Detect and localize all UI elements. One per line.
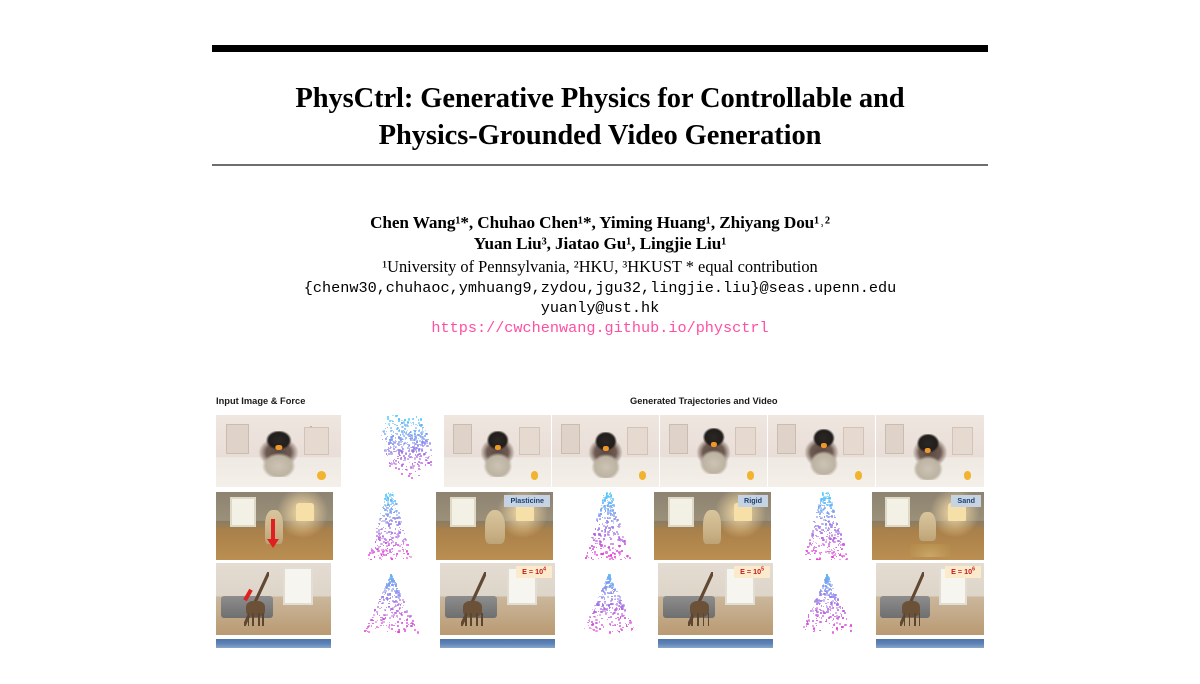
email-primary: {chenw30,chuhaoc,ymhuang9,zydou,jgu32,li… <box>212 278 988 298</box>
row1-frame-2 <box>552 415 659 487</box>
title-rule-bottom <box>212 164 988 166</box>
row4-result-1 <box>440 639 555 648</box>
figure-headers: Input Image & Force Generated Trajectori… <box>212 396 988 410</box>
material-badge: Rigid <box>738 495 768 507</box>
title-rule-top <box>212 45 988 52</box>
row1-frame-1 <box>444 415 551 487</box>
title-line-1: PhysCtrl: Generative Physics for Control… <box>295 83 904 114</box>
figure-header-generated: Generated Trajectories and Video <box>630 396 778 406</box>
teaser-figure: Input Image & Force Generated Trajectori… <box>212 396 988 648</box>
row3-result-e4: E = 104 <box>440 563 555 635</box>
material-badge: Plasticine <box>504 495 550 507</box>
row2-result-plasticine: Plasticine <box>436 492 553 560</box>
page-title: PhysCtrl: Generative Physics for Control… <box>230 80 970 154</box>
authors-line-2: Yuan Liu³, Jiatao Gu¹, Lingjie Liu¹ <box>212 233 988 254</box>
row3-result-e5: E = 105 <box>658 563 773 635</box>
row1-input-image <box>216 415 341 487</box>
row3-point-cloud-1 <box>358 563 430 635</box>
title-line-2: Physics-Grounded Video Generation <box>379 120 822 151</box>
authors-line-1: Chen Wang¹*, Chuhao Chen¹*, Yiming Huang… <box>212 212 988 233</box>
row1-point-cloud <box>362 415 442 487</box>
row2-result-sand: Sand <box>872 492 984 560</box>
row3-input-image <box>216 563 331 635</box>
project-url-link[interactable]: https://cwchenwang.github.io/physctrl <box>212 318 988 338</box>
row2-point-cloud-3 <box>790 492 860 560</box>
figure-row-cat: Plasticine Rigid Sand <box>212 492 988 560</box>
row4-result-3 <box>876 639 984 648</box>
row2-point-cloud-2 <box>572 492 642 560</box>
stiffness-badge: E = 106 <box>945 566 981 578</box>
email-secondary: yuanly@ust.hk <box>212 298 988 318</box>
row4-result-2 <box>658 639 773 648</box>
row2-point-cloud-1 <box>354 492 424 560</box>
row3-result-e6: E = 106 <box>876 563 984 635</box>
author-block: Chen Wang¹*, Chuhao Chen¹*, Yiming Huang… <box>212 212 988 338</box>
figure-row-giraffe: E = 104 E = 105 <box>212 563 988 635</box>
row1-frame-3 <box>660 415 767 487</box>
row2-result-rigid: Rigid <box>654 492 771 560</box>
paper-column: PhysCtrl: Generative Physics for Control… <box>212 0 988 648</box>
row2-input-image <box>216 492 333 560</box>
row1-frame-5 <box>876 415 984 487</box>
row4-input-image <box>216 639 331 648</box>
figure-header-input: Input Image & Force <box>216 396 305 406</box>
force-arrow-icon <box>271 519 275 539</box>
force-arrow-icon <box>309 434 313 453</box>
row1-frame-4 <box>768 415 875 487</box>
material-badge: Sand <box>951 495 981 507</box>
stiffness-badge: E = 105 <box>734 566 770 578</box>
row3-point-cloud-2 <box>576 563 648 635</box>
figure-row-penguin <box>212 415 988 487</box>
stiffness-badge: E = 104 <box>516 566 552 578</box>
figure-row-beach-cropped <box>212 639 988 648</box>
affiliations: ¹University of Pennsylvania, ²HKU, ³HKUS… <box>212 256 988 278</box>
row3-point-cloud-3 <box>794 563 866 635</box>
